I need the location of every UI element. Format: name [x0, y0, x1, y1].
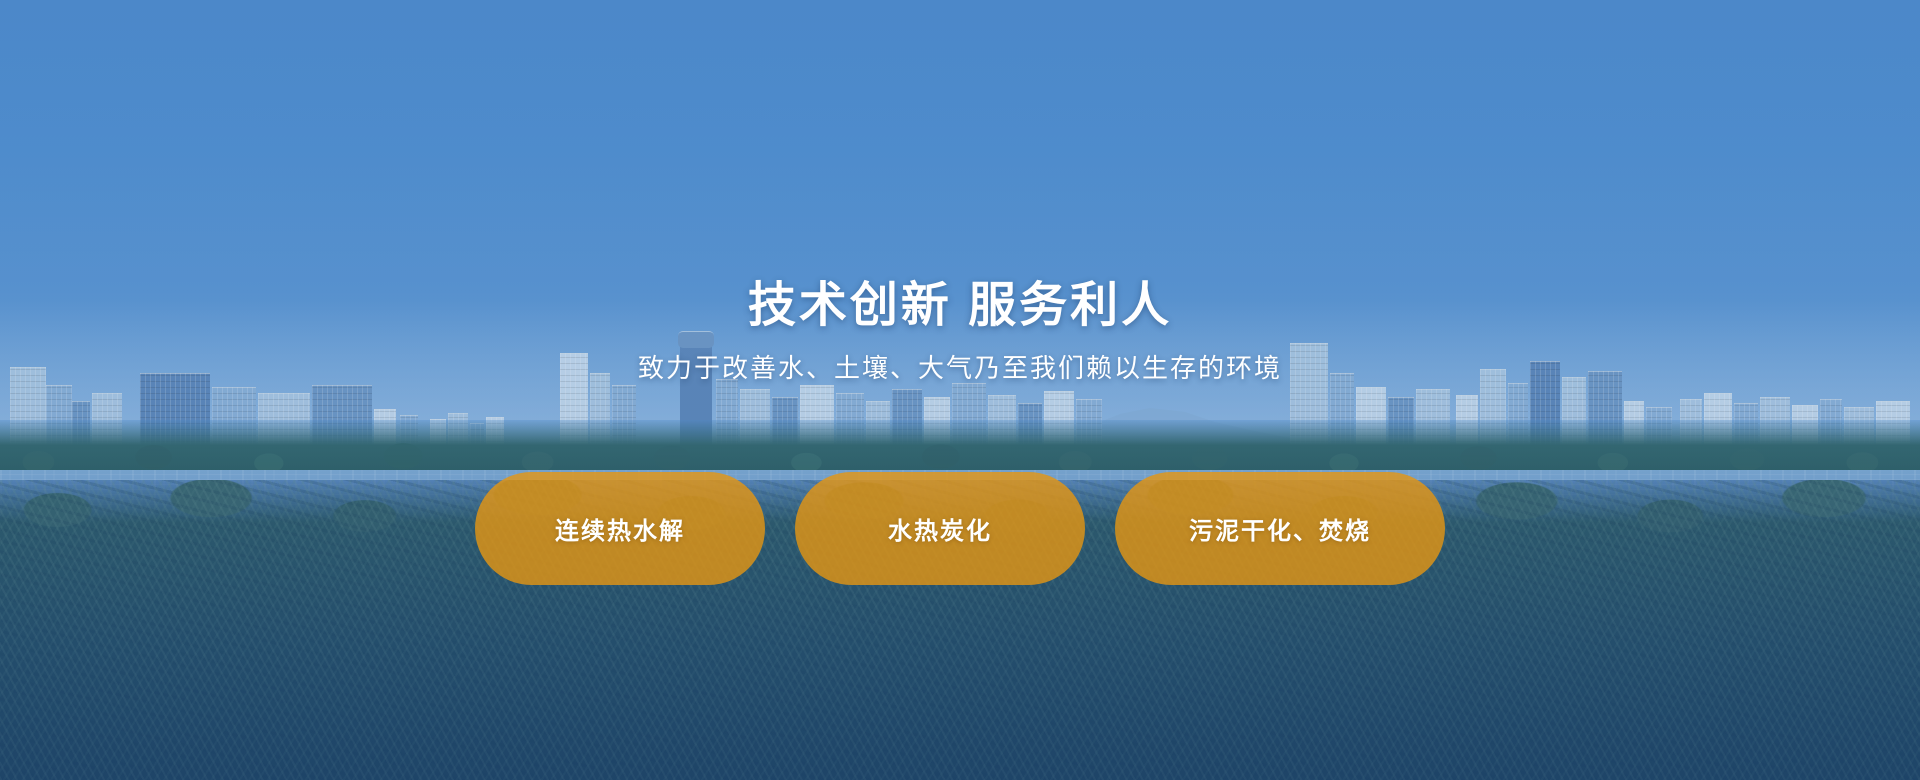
hero-content: 技术创新 服务利人 致力于改善水、土壤、大气乃至我们赖以生存的环境 连续热水解 … — [0, 0, 1920, 780]
service-button-row: 连续热水解 水热炭化 污泥干化、焚烧 — [475, 472, 1445, 585]
hero-banner: 技术创新 服务利人 致力于改善水、土壤、大气乃至我们赖以生存的环境 连续热水解 … — [0, 0, 1920, 780]
hero-subtitle: 致力于改善水、土壤、大气乃至我们赖以生存的环境 — [638, 348, 1282, 385]
service-button-sludge-drying-incineration[interactable]: 污泥干化、焚烧 — [1115, 472, 1445, 585]
service-button-hydrothermal-carbonization[interactable]: 水热炭化 — [795, 472, 1085, 585]
service-button-continuous-thermal-hydrolysis[interactable]: 连续热水解 — [475, 472, 765, 585]
page-title: 技术创新 服务利人 — [748, 265, 1172, 335]
